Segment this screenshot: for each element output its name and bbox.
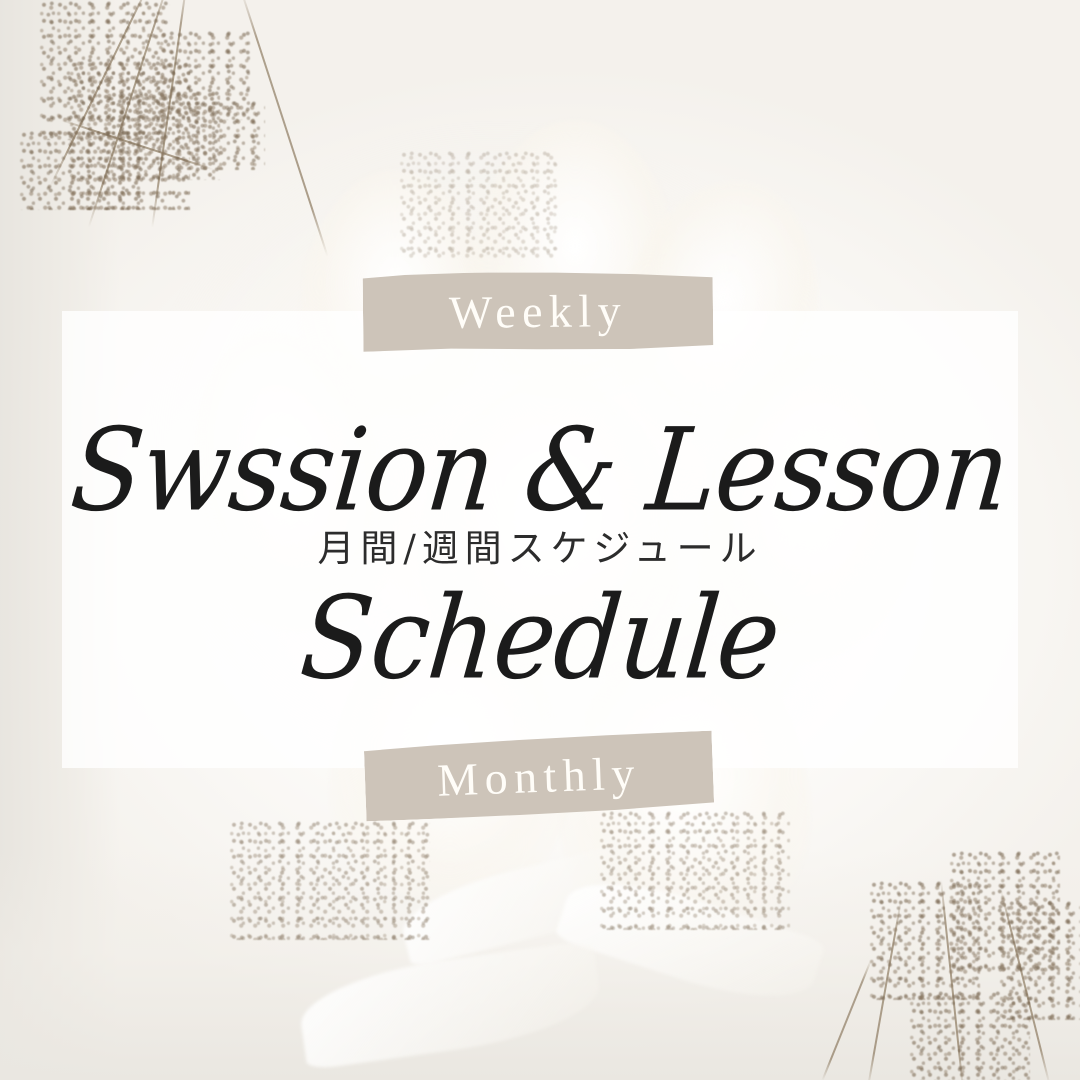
page-subtitle-script: Schedule	[0, 581, 1080, 695]
schedule-graphic-canvas: Weekly Swssion & Lesson 月間/週間スケジュール Sche…	[0, 0, 1080, 1080]
dried-flower-cluster	[600, 810, 790, 930]
dried-flower-cluster	[230, 820, 430, 940]
dried-flower-cluster	[185, 100, 265, 170]
monthly-banner-label: Monthly	[436, 746, 641, 806]
dried-flower-cluster	[400, 150, 560, 260]
dried-flower-cluster	[910, 990, 1030, 1080]
weekly-banner: Weekly	[363, 270, 714, 352]
page-title-script: Swssion & Lesson	[0, 413, 1080, 527]
weekly-banner-label: Weekly	[449, 284, 628, 339]
monthly-banner: Monthly	[364, 731, 715, 822]
japanese-subtitle: 月間/週間スケジュール	[0, 518, 1080, 572]
